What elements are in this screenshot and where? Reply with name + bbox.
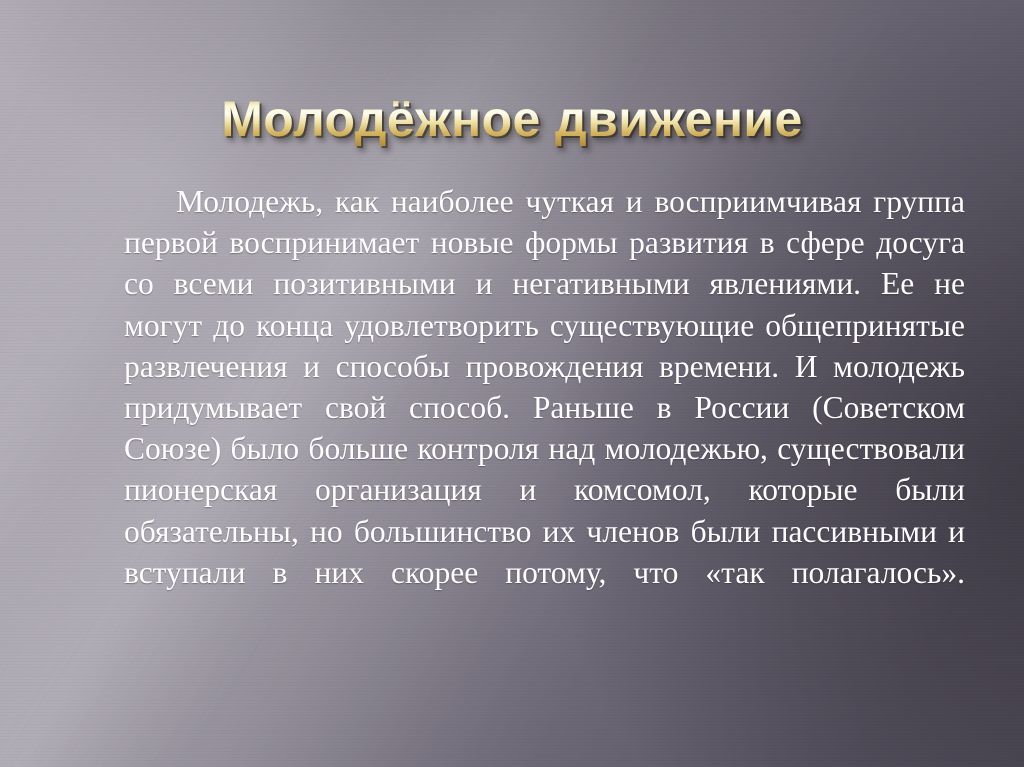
slide-title-container: Молодёжное движение [0,58,1024,179]
slide-title: Молодёжное движение [221,92,803,146]
presentation-slide: Молодёжное движение Молодежь, как наибол… [0,0,1024,767]
slide-body-paragraph: Молодежь, как наиболее чуткая и восприим… [124,181,965,593]
slide-body-container: Молодежь, как наиболее чуткая и восприим… [124,181,965,593]
